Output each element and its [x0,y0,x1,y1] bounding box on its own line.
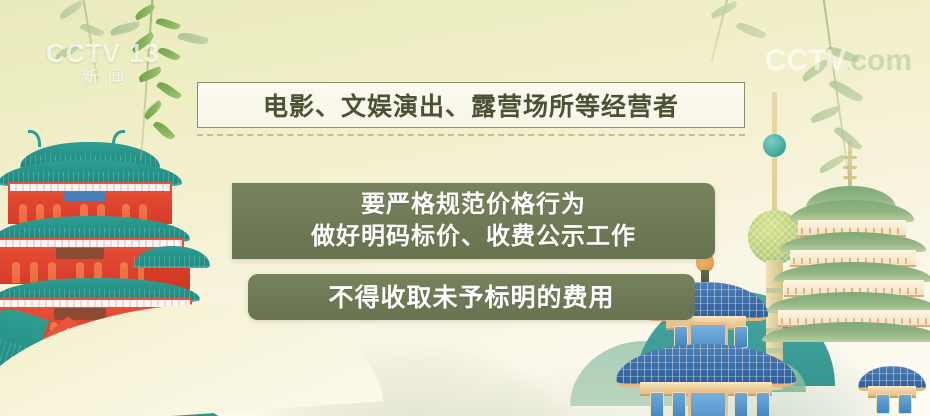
pagoda-body-base [34,368,204,416]
tower-mast [772,92,777,212]
tower-upper-sphere [763,134,786,157]
pagoda-roof-far-left [0,299,49,387]
pagoda-window [97,204,105,223]
cctv13-channel-logo: CCTV 13 新闻 [38,40,168,87]
red-pagoda-illustration [0,120,224,416]
willow-leaf [109,21,140,36]
small-pavilion-window [876,394,890,414]
pagoda-roof-step1 [114,378,194,398]
pagoda-window [142,322,150,348]
pagoda-trim-tier1 [10,184,170,191]
willow-stem [711,0,732,62]
willow-leaf [833,124,862,153]
small-pavilion-roof [858,366,926,391]
pagoda-window [12,262,20,283]
willow-leaf [710,1,739,19]
pale-pagoda-roof-4 [768,292,930,312]
pagoda-gable-inner [52,328,84,345]
temple-finial-neck [701,270,709,286]
title-banner-text: 电影、文娱演出、露营场所等经营者 [263,87,679,123]
pale-pagoda-roof-3 [774,262,930,282]
pagoda-window [80,204,88,223]
title-banner-dashed-underline [197,134,745,136]
pagoda-window [36,204,44,223]
willow-leaf [133,3,156,20]
small-pavilion-window [898,394,912,414]
pagoda-side-roof-tier2 [134,246,210,268]
willow-leaf [177,30,208,47]
channel-logo-main-text: CCTV 13 [38,40,168,66]
temple-window [672,392,686,416]
misty-hill-center-right [430,371,730,416]
message-line: 要严格规范价格行为 [361,189,586,221]
misty-hill-center-left [250,346,580,416]
pale-pagoda-spire [848,140,852,190]
pale-pagoda-roof-5 [762,322,930,342]
pagoda-window [30,262,38,283]
temple-window [734,326,748,348]
pagoda-side-wing-tier2 [144,260,190,300]
pagoda-window [10,322,18,348]
pale-pagoda-illustration [772,140,930,380]
pagoda-window [138,262,146,283]
cctv-com-watermark: CCTV.com [765,44,912,78]
pagoda-window [50,322,58,348]
willow-stem [822,0,850,182]
pagoda-gable [34,316,102,346]
tower-shaft [766,260,783,390]
pagoda-window [53,204,61,223]
temple-window [756,392,770,416]
pale-pagoda-spire-ring [843,166,857,169]
pagoda-body-tier1 [8,182,172,224]
message-line: 做好明码标价、收费公示工作 [311,221,636,253]
pagoda-roof-tier4 [8,348,198,372]
pagoda-roof-tier2 [0,216,190,242]
willow-leaf [809,106,840,124]
pagoda-roof-tier3 [0,278,200,302]
pagoda-roof-tier1 [20,142,160,170]
pale-pagoda-roof-1 [806,186,896,210]
willow-branch-right [766,0,916,204]
pagoda-window [19,204,27,223]
temple-window [650,392,664,416]
temple-door-upper [688,322,728,356]
pale-pagoda-spire-ring [843,156,857,159]
message-box-primary: 要严格规范价格行为 做好明码标价、收费公示工作 [232,183,715,259]
pale-pagoda-tier-3 [784,280,924,297]
tower-rung [766,308,783,313]
pagoda-finial-left [28,130,41,147]
willow-leaf [152,119,175,143]
small-pavilion-band [868,386,916,398]
pagoda-window [122,204,130,223]
pale-pagoda-tier-2 [790,250,916,267]
broadcast-frame: CCTV 13 新闻 CCTV.com 电影、文娱演出、露营场所等经营者 要严格… [0,0,930,416]
pagoda-base-panel [38,372,90,392]
temple-window [674,326,688,348]
willow-leaf [828,77,863,105]
temple-band-lower [640,382,772,396]
pagoda-window [120,262,128,283]
tower-main-sphere [748,210,802,264]
misty-hill-right [640,336,900,416]
pagoda-window [94,262,102,283]
temple-roof-lower [616,344,796,387]
tower-base-hill [744,362,806,392]
pagoda-plaque [64,192,106,201]
tower-rung [766,328,783,333]
pagoda-window [122,322,130,348]
message-box-secondary: 不得收取未予标明的费用 [248,274,695,320]
willow-leaf [142,100,164,120]
oriental-pearl-tower-illustration [740,92,810,392]
pale-pagoda-eave-1 [790,200,914,222]
watermark-com-text: com [850,44,912,77]
teal-hill-back [570,341,720,406]
tower-rung [766,348,783,353]
channel-logo-sub-text: 新闻 [38,70,168,87]
watermark-cctv-text: CCTV [765,44,847,77]
temple-window [734,392,748,416]
willow-leaf [58,0,85,20]
temple-door-lower [688,390,728,416]
pagoda-window [76,262,84,283]
willow-leaf [818,154,847,173]
pale-pagoda-tier-1 [798,220,906,237]
willow-leaf [155,16,180,32]
title-banner: 电影、文娱演出、露营场所等经营者 [197,82,745,128]
pagoda-trim-tier3 [0,300,190,307]
pagoda-finial-right [112,130,125,147]
willow-leaf [79,21,104,39]
tower-rung [766,288,783,293]
pagoda-eave-tier1 [0,160,182,186]
pale-pagoda-tier-4 [778,310,930,327]
pale-pagoda-roof-2 [780,232,926,252]
pagoda-trim-tier2 [0,240,182,247]
pagoda-window [139,204,147,223]
pale-pagoda-spire-ring [843,176,857,179]
pagoda-window [102,322,110,348]
pagoda-body-tier3 [0,298,192,354]
pagoda-plaque [56,248,104,259]
pagoda-window [30,322,38,348]
pagoda-window [48,262,56,283]
pagoda-body-tier2 [0,238,184,284]
message-line: 不得收取未予标明的费用 [328,281,614,314]
willow-leaf [736,19,767,41]
pagoda-plaque [54,308,106,320]
pagoda-roof-step2 [152,408,224,416]
small-pavilion-illustration [858,366,928,416]
